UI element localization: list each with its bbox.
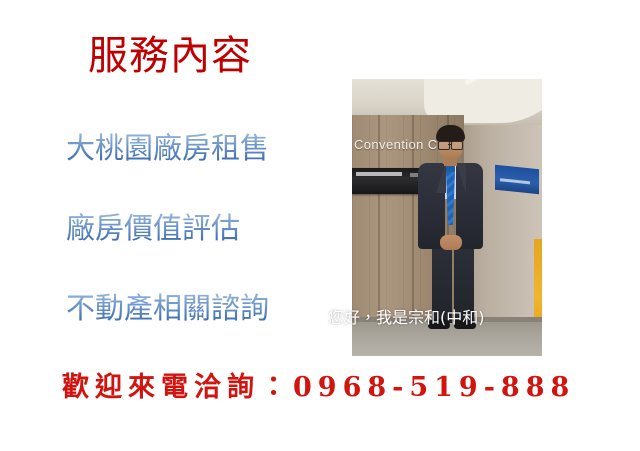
person-hands <box>440 235 462 250</box>
person-tie-knot <box>446 165 455 173</box>
contact-phone-line: 歡迎來電洽詢：0968-519-888 <box>62 372 575 404</box>
person-lapel-right <box>456 163 466 193</box>
glasses-icon <box>451 141 463 150</box>
service-item-1: 廠房價值評估 <box>66 211 240 245</box>
person-necktie <box>446 172 455 225</box>
glasses-icon <box>438 141 450 150</box>
person-lapel-left <box>436 163 446 193</box>
photo-caption: 您好，我是宗和(中和) <box>328 308 485 328</box>
glasses-bridge <box>448 144 451 145</box>
service-item-0: 大桃園廠房租售 <box>66 131 269 165</box>
person-hair <box>436 125 465 142</box>
service-item-2: 不動產相關諮詢 <box>66 291 269 325</box>
presentation-slide: 服務內容 大桃園廠房租售 廠房價值評估 不動產相關諮詢 歡迎來電洽詢：0968-… <box>0 0 640 451</box>
page-title: 服務內容 <box>88 33 252 79</box>
